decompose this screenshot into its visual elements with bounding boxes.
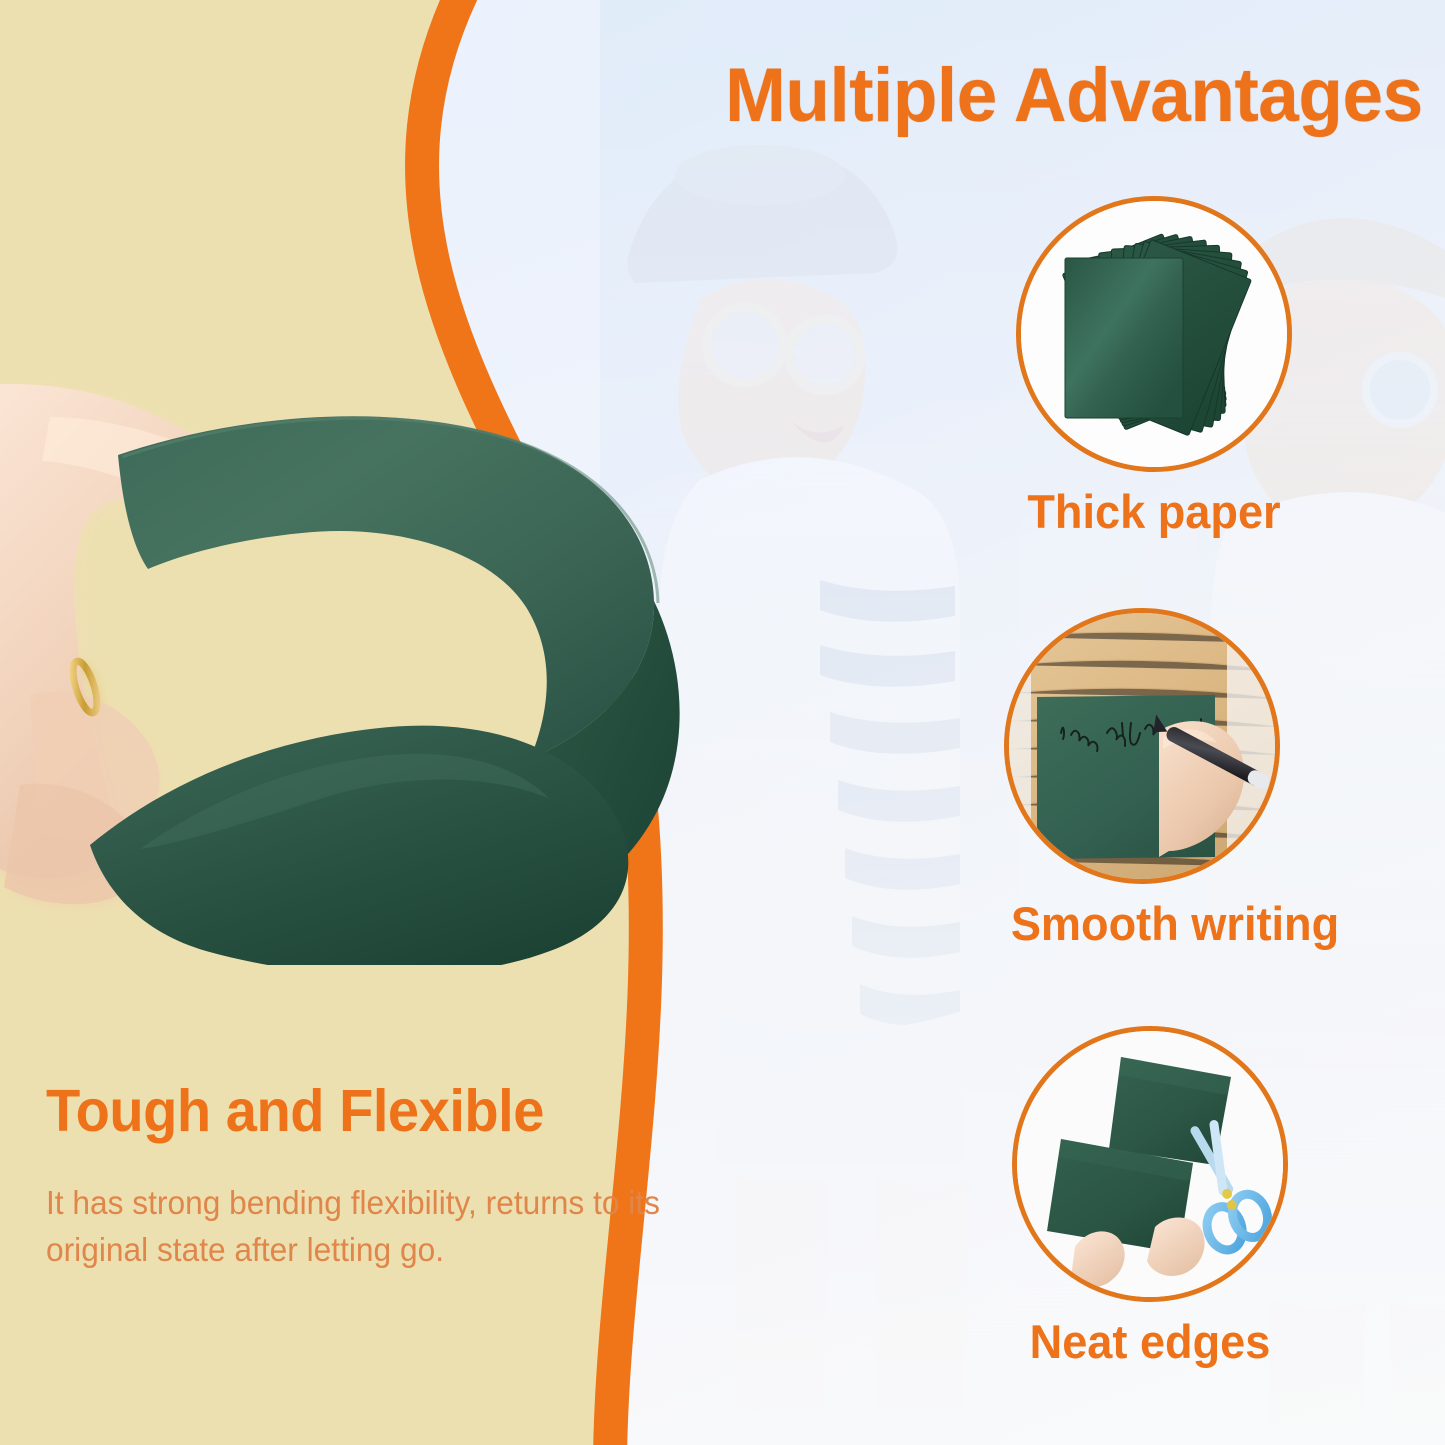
feature-thick-paper: Thick paper <box>1016 196 1292 535</box>
feature-neat-edges-label: Neat edges <box>1018 1318 1283 1365</box>
feature-thick-paper-photo <box>1016 196 1292 472</box>
feature-neat-edges-photo <box>1012 1026 1288 1302</box>
feature-smooth-writing: Smooth writing <box>1004 608 1346 947</box>
page-title: Multiple Advantages <box>725 58 1423 134</box>
hero-photo-bending-paper <box>0 355 690 965</box>
infographic-canvas: Multiple Advantages <box>0 0 1445 1445</box>
feature-thick-paper-label: Thick paper <box>1022 488 1287 535</box>
hero-body-text: It has strong bending flexibility, retur… <box>46 1180 708 1274</box>
feature-smooth-writing-photo <box>1004 608 1280 884</box>
feature-neat-edges: Neat edges <box>1012 1026 1288 1365</box>
feature-smooth-writing-label: Smooth writing <box>1011 900 1339 947</box>
hero-heading: Tough and Flexible <box>46 1082 544 1141</box>
